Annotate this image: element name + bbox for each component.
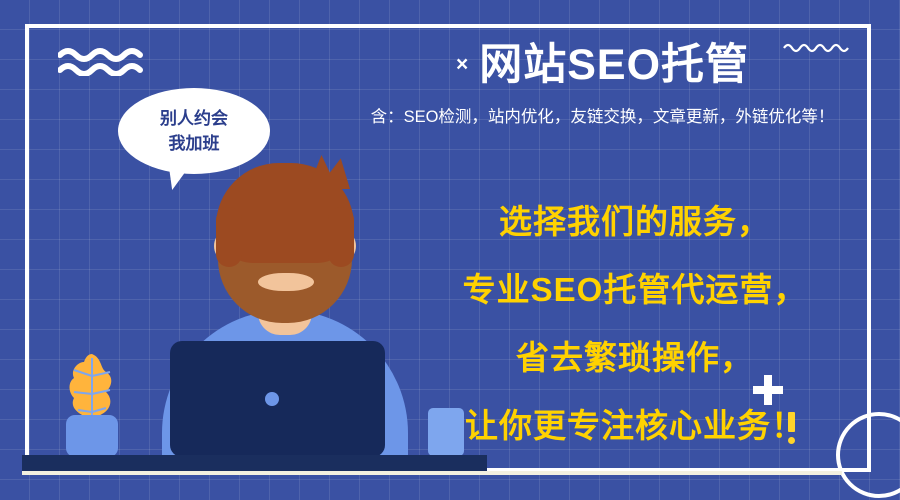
desk-edge-line — [22, 471, 842, 475]
title-text: 网站SEO托管 — [479, 41, 749, 89]
page-subtitle: 含：SEO检测，站内优化，友链交换，文章更新，外链优化等！ — [330, 103, 875, 127]
mouth — [258, 273, 314, 291]
seo-hosting-banner: ×网站SEO托管 含：SEO检测，站内优化，友链交换，文章更新，外链优化等！ 选… — [0, 0, 900, 500]
speech-bubble-line-2: 我加班 — [169, 131, 220, 156]
slogan-line-1: 选择我们的服务， — [400, 188, 870, 256]
hair-side-right — [328, 207, 354, 267]
plant-pot — [66, 415, 118, 457]
page-title: ×网站SEO托管 — [330, 42, 875, 89]
header-block: ×网站SEO托管 含：SEO检测，站内优化，友链交换，文章更新，外链优化等！ — [330, 42, 875, 127]
slogan-line-4: 让你更专注核心业务！ — [400, 392, 870, 460]
wave-thick-icon — [58, 46, 144, 81]
hair-side-left — [216, 207, 242, 267]
slogan-line-3: 省去繁琐操作， — [400, 324, 870, 392]
slogan-block: 选择我们的服务， 专业SEO托管代运营， 省去繁琐操作， 让你更专注核心业务！ — [400, 188, 870, 460]
laptop-logo-icon — [265, 392, 279, 406]
slogan-line-2: 专业SEO托管代运营， — [400, 256, 870, 324]
speech-bubble: 别人约会 我加班 — [118, 88, 270, 174]
books-icon — [428, 408, 464, 456]
speech-bubble-line-1: 别人约会 — [160, 106, 228, 131]
title-cross-mark: × — [456, 53, 469, 76]
